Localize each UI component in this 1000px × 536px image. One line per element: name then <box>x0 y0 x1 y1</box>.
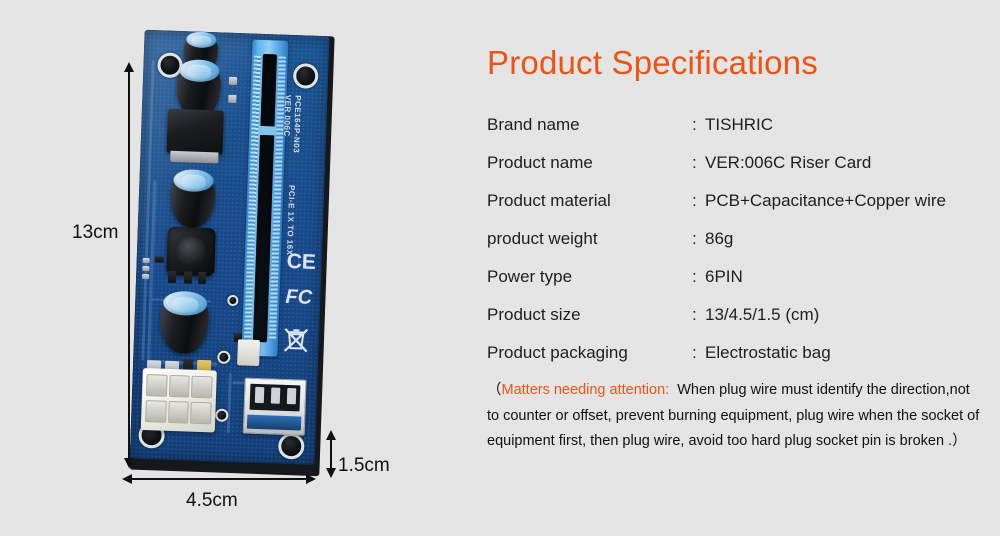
spec-label: Brand name <box>487 115 580 135</box>
power-inductor <box>166 227 216 277</box>
thickness-dimension-arrow-top <box>326 430 336 440</box>
capacitor-stripe <box>181 175 206 190</box>
connector-pin <box>145 400 166 423</box>
smd-component <box>228 95 236 103</box>
width-dimension-arrow-left <box>122 474 132 484</box>
connector-pin <box>169 375 190 398</box>
fcc-mark-icon: FC <box>285 287 312 308</box>
spec-label: Power type <box>487 267 572 287</box>
height-dimension-arrow-bottom <box>124 458 134 468</box>
smd-component <box>198 272 206 284</box>
height-dimension-label: 13cm <box>72 222 118 244</box>
usb-contact <box>255 387 265 403</box>
usb3-port <box>243 378 307 436</box>
spec-colon: : <box>692 153 697 173</box>
spec-value: 6PIN <box>705 267 743 287</box>
weee-bin-icon <box>282 327 311 354</box>
page-title: Product Specifications <box>487 44 818 82</box>
spec-colon: : <box>692 115 697 135</box>
spec-value: VER:006C Riser Card <box>705 153 871 173</box>
spec-colon: : <box>692 305 697 325</box>
spec-label: Product size <box>487 305 581 325</box>
usb-contact <box>271 387 281 403</box>
capacitor-stripe <box>171 297 198 314</box>
spec-row-product-packaging: Product packaging : Electrostatic bag <box>470 343 1000 381</box>
capacitor <box>159 293 209 355</box>
silkscreen-part-number: PCE164P-N03 <box>292 95 303 153</box>
usb-contact <box>287 388 297 404</box>
spec-value: Electrostatic bag <box>705 343 831 363</box>
spec-colon: : <box>692 191 697 211</box>
smd-component <box>155 256 164 262</box>
spec-row-brand-name: Brand name : TISHRIC <box>470 115 1000 153</box>
height-dimension-arrow-top <box>124 62 134 72</box>
6pin-power-connector <box>141 368 217 433</box>
silkscreen-version: VER 006C <box>282 95 292 137</box>
capacitor-stripe <box>192 36 211 47</box>
mounting-hole <box>293 63 319 89</box>
spec-label: product weight <box>487 229 598 249</box>
spec-row-product-name: Product name : VER:006C Riser Card <box>470 153 1000 191</box>
spec-row-product-weight: product weight : 86g <box>470 229 1000 267</box>
pcb-trace <box>227 373 232 433</box>
product-photo-panel: PCE164P-N03 VER 006C PCI-E 1X TO 16X CE … <box>0 0 470 536</box>
ce-mark-icon: CE <box>286 251 316 273</box>
smd-component <box>229 77 237 85</box>
smd-component <box>142 274 149 279</box>
slot-key-notch <box>258 126 276 136</box>
pcb-board: PCE164P-N03 VER 006C PCI-E 1X TO 16X CE … <box>130 30 330 465</box>
spec-value: 13/4.5/1.5 (cm) <box>705 305 819 325</box>
specifications-list: Brand name : TISHRIC Product name : VER:… <box>470 115 1000 381</box>
width-dimension-line <box>130 478 308 480</box>
smd-component <box>184 271 192 283</box>
usb-blue-insert <box>247 415 301 431</box>
connector-pin <box>168 401 189 424</box>
spec-value: 86g <box>705 229 733 249</box>
spec-row-product-material: Product material : PCB+Capacitance+Coppe… <box>470 191 1000 229</box>
spec-colon: : <box>692 343 697 363</box>
spec-label: Product material <box>487 191 611 211</box>
capacitor <box>170 171 216 229</box>
thickness-dimension-arrow-bottom <box>326 468 336 478</box>
riser-card-photo: PCE164P-N03 VER 006C PCI-E 1X TO 16X CE … <box>129 30 334 476</box>
specifications-panel: Product Specifications Brand name : TISH… <box>470 0 1000 536</box>
spec-value: TISHRIC <box>705 115 773 135</box>
width-dimension-label: 4.5cm <box>186 490 238 512</box>
capacitor-stripe <box>187 65 212 80</box>
via-hole <box>227 295 238 306</box>
connector-pin-row <box>146 374 213 398</box>
pcie-x16-slot <box>241 40 288 357</box>
voltage-regulator-ic <box>166 109 224 155</box>
smd-component <box>142 266 149 271</box>
connector-pin <box>191 376 212 399</box>
smd-component <box>168 271 176 283</box>
spec-label: Product packaging <box>487 343 628 363</box>
thickness-dimension-label: 1.5cm <box>338 455 390 477</box>
notice-highlight: Matters needing attention: <box>502 382 670 398</box>
via-hole <box>217 351 230 364</box>
connector-pin-row <box>145 400 212 424</box>
product-spec-page: PCE164P-N03 VER 006C PCI-E 1X TO 16X CE … <box>0 0 1000 536</box>
mounting-hole <box>278 433 305 460</box>
spec-value: PCB+Capacitance+Copper wire <box>705 191 946 211</box>
spec-row-product-size: Product size : 13/4.5/1.5 (cm) <box>470 305 1000 343</box>
spec-colon: : <box>692 229 697 249</box>
smd-component <box>143 258 150 263</box>
width-dimension-arrow-right <box>306 474 316 484</box>
connector-pin <box>190 402 211 425</box>
spec-colon: : <box>692 267 697 287</box>
connector-pin <box>146 374 167 397</box>
slot-retention-clip <box>237 339 260 366</box>
silkscreen-interface: PCI-E 1X TO 16X <box>285 185 296 256</box>
spec-row-power-type: Power type : 6PIN <box>470 267 1000 305</box>
height-dimension-line <box>128 70 130 466</box>
notice-open-paren: （ <box>487 382 502 398</box>
attention-notice: （Matters needing attention: When plug wi… <box>487 378 985 455</box>
spec-label: Product name <box>487 153 593 173</box>
